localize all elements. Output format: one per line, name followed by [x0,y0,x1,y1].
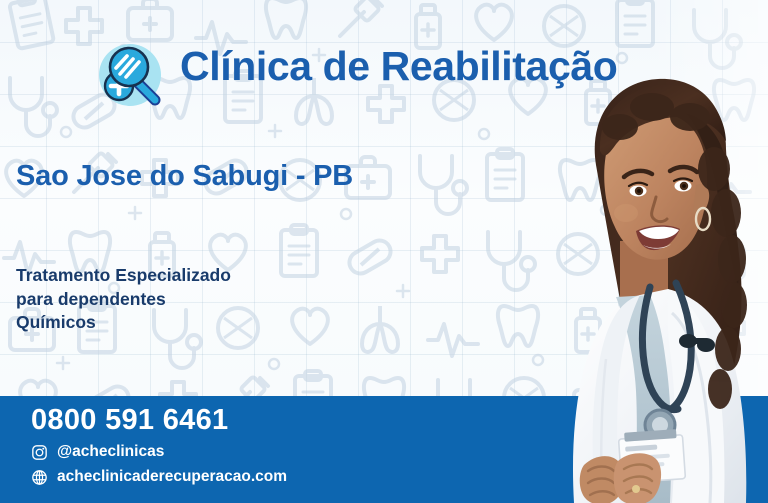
location-heading: Sao Jose do Sabugi - PB [16,160,353,193]
tagline-line-2: para dependentes [16,288,231,312]
tagline-line-1: Tratamento Especializado [16,264,231,288]
website-contact[interactable]: acheclinicaderecuperacao.com [31,468,287,486]
phone-number[interactable]: 0800 591 6461 [31,404,228,437]
instagram-icon [31,444,48,461]
tagline-line-3: Químicos [16,311,231,335]
instagram-handle: @acheclinicas [57,443,164,461]
website-url: acheclinicaderecuperacao.com [57,468,287,486]
instagram-contact[interactable]: @acheclinicas [31,443,164,461]
tagline-block: Tratamento Especializado para dependente… [16,264,231,335]
doctor-photo [500,73,768,503]
clinic-banner: Clínica de Reabilitação Sao Jose do Sabu… [0,0,768,503]
globe-icon [31,469,48,486]
magnifier-medical-plus-icon [93,38,167,112]
